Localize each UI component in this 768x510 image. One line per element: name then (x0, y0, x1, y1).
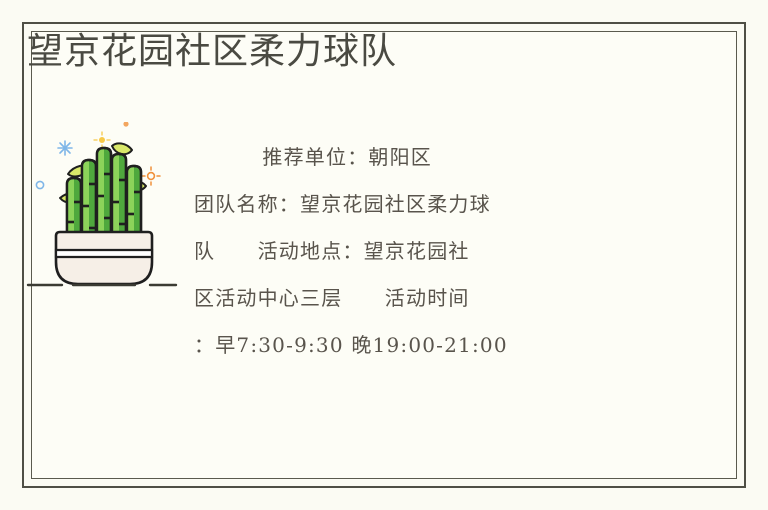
sparkle-blue-circle-icon (36, 181, 43, 188)
team-details-text: 推荐单位：朝阳区 团队名称：望京花园社区柔力球 队 活动地点：望京花园社 区活动… (194, 134, 614, 369)
poster-card: 望京花园社区柔力球队 (0, 0, 768, 510)
sparkle-blue-snowflake-icon (58, 141, 72, 155)
potted-bamboo-cactus-illustration (24, 122, 184, 297)
sparkle-yellow-dot-icon (94, 132, 110, 148)
detail-line-recommend: 推荐单位：朝阳区 (194, 134, 614, 181)
detail-line-team-name: 团队名称：望京花园社区柔力球 (194, 181, 614, 228)
detail-line-venue: 队 活动地点：望京花园社 (194, 228, 614, 275)
flower-pot (56, 232, 152, 284)
page-title: 望京花园社区柔力球队 (27, 28, 397, 74)
detail-line-venue-cont: 区活动中心三层 活动时间 (194, 275, 614, 322)
sparkle-orange-small-dot-icon (123, 122, 128, 127)
sparkle-orange-star-icon (142, 167, 160, 185)
leaf-right-upper-icon (112, 143, 132, 154)
detail-line-time: ：早7:30-9:30 晚19:00-21:00 (194, 322, 614, 369)
